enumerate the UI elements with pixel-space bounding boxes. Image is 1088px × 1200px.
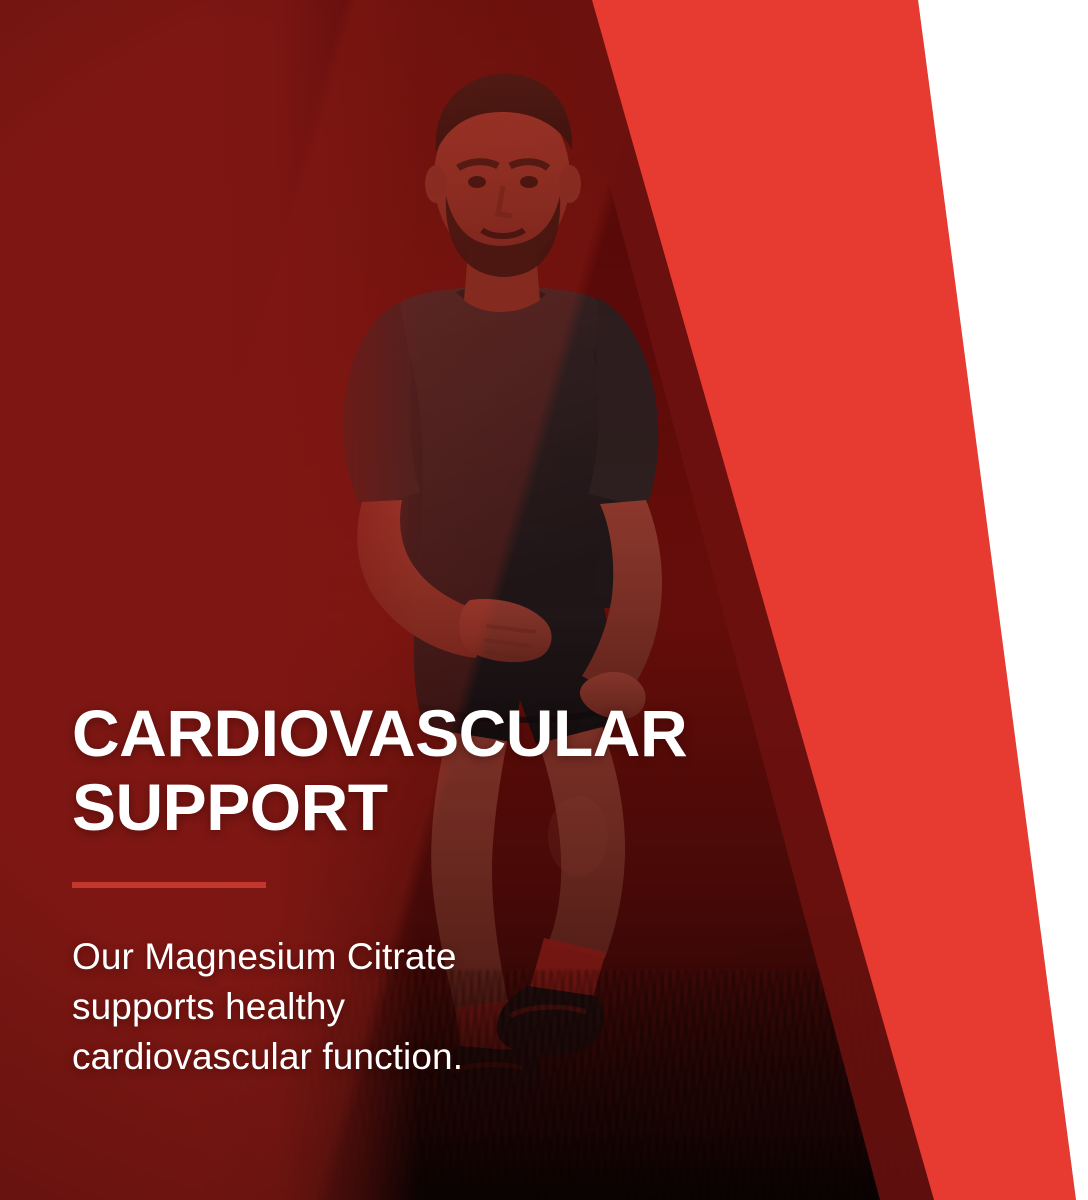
subcopy-text: Our Magnesium Citratesupports healthycar… <box>72 932 672 1082</box>
cardiovascular-support-poster: CARDIOVASCULARSUPPORT Our Magnesium Citr… <box>0 0 1088 1200</box>
subcopy-line-2: supports healthy <box>72 986 345 1027</box>
subcopy-line-1: Our Magnesium Citrate <box>72 936 457 977</box>
subcopy-line-3: cardiovascular function. <box>72 1036 463 1077</box>
page-title: CARDIOVASCULARSUPPORT <box>72 696 672 844</box>
headline-line-2: SUPPORT <box>72 770 388 844</box>
accent-divider <box>72 882 266 888</box>
text-content-block: CARDIOVASCULARSUPPORT Our Magnesium Citr… <box>72 696 672 1082</box>
headline-line-1: CARDIOVASCULAR <box>72 696 687 770</box>
